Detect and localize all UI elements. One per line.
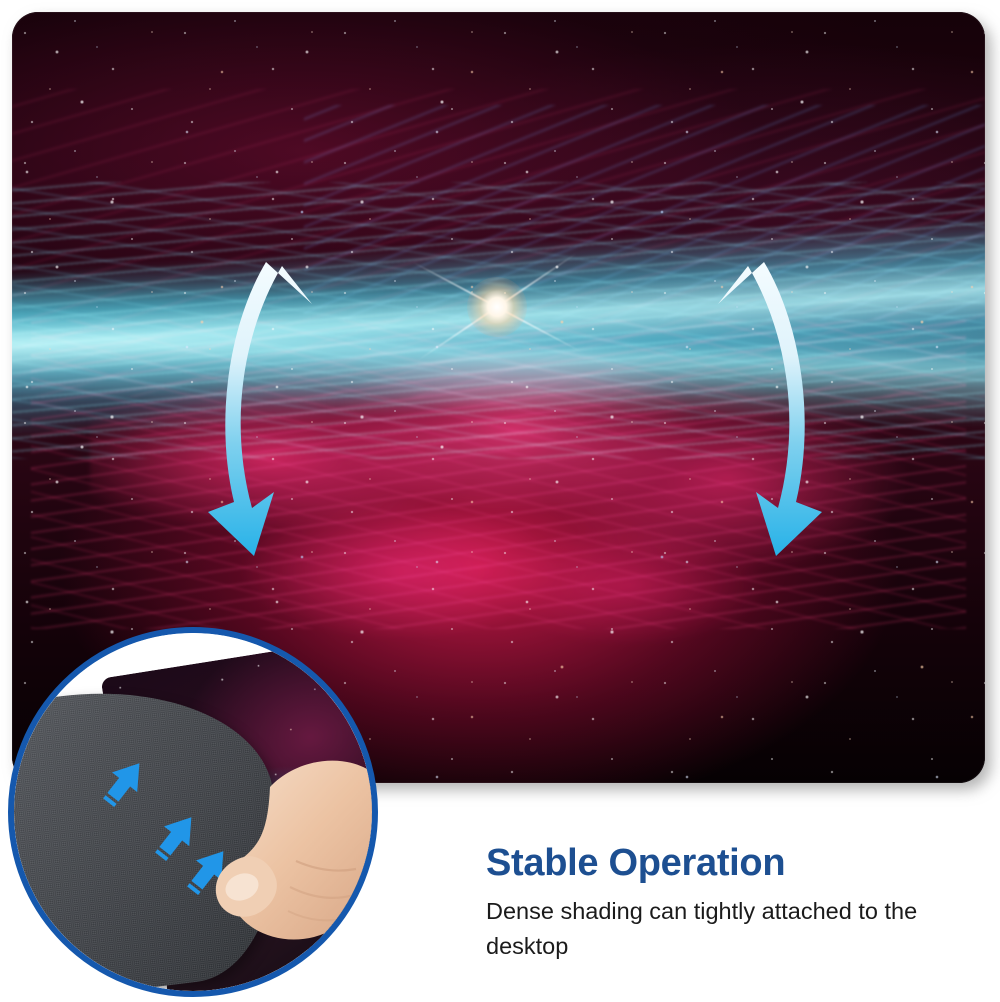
caption-title: Stable Operation bbox=[486, 844, 956, 884]
product-image-canvas: Stable Operation Dense shading can tight… bbox=[0, 0, 1000, 1002]
star-glow bbox=[467, 277, 527, 337]
caption-body: Dense shading can tightly attached to th… bbox=[486, 894, 956, 964]
caption-block: Stable Operation Dense shading can tight… bbox=[486, 844, 956, 963]
stable-operation-inset bbox=[8, 627, 378, 997]
inset-content bbox=[14, 633, 372, 991]
grip-arrow-up-icon bbox=[96, 755, 152, 811]
hand-icon bbox=[210, 741, 372, 951]
caption-body-line-1: Dense shading can tightly attached bbox=[486, 898, 852, 924]
